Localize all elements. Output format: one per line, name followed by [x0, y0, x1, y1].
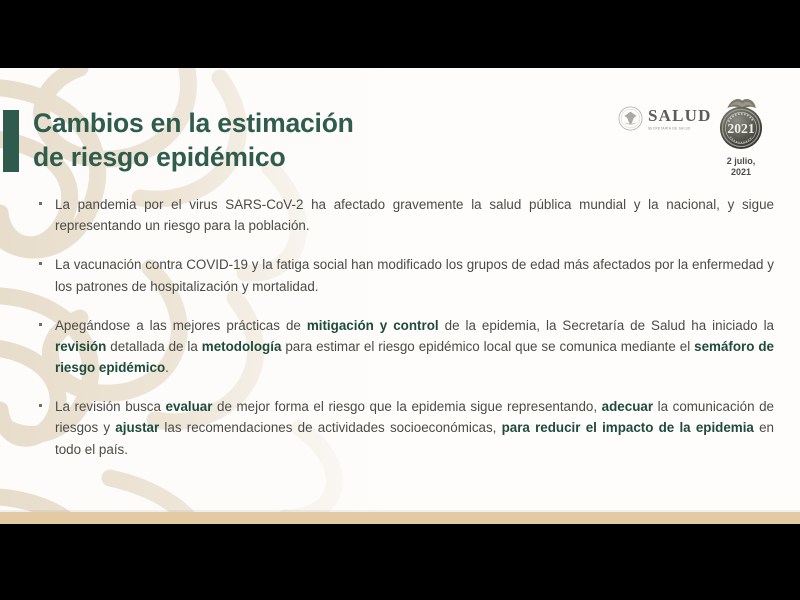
- bullet-emphasis: para reducir el impacto de la epidemia: [502, 420, 754, 435]
- bullet-text: La vacunación contra COVID-19 y la fatig…: [55, 254, 774, 296]
- bullet-marker-icon: [39, 404, 42, 407]
- bullet-vacunacion: La vacunación contra COVID-19 y la fatig…: [34, 254, 774, 296]
- bullet-list: La pandemia por el virus SARS-CoV-2 ha a…: [34, 194, 774, 460]
- salud-logo: SALUD SECRETARÍA DE SALUD: [618, 106, 712, 131]
- salud-wordmark: SALUD: [648, 107, 712, 124]
- bullet-metodologia: Apegándose a las mejores prácticas de mi…: [34, 315, 774, 379]
- letterbox-bottom: [0, 524, 800, 600]
- bullet-revision: La revisión busca evaluar de mejor forma…: [34, 396, 774, 460]
- bullet-plain: La pandemia por el virus SARS-CoV-2 ha a…: [55, 197, 774, 233]
- bullet-emphasis: evaluar: [166, 399, 213, 414]
- bullet-emphasis: adecuar: [602, 399, 653, 414]
- bullet-plain: La vacunación contra COVID-19 y la fatig…: [55, 257, 774, 293]
- bullet-plain: detallada de la: [106, 339, 201, 354]
- seal-date-line-1: 2 julio,: [710, 156, 772, 167]
- seal-date: 2 julio, 2021: [710, 156, 772, 179]
- bullet-marker-icon: [39, 323, 42, 326]
- bullet-text: La pandemia por el virus SARS-CoV-2 ha a…: [55, 194, 774, 236]
- bullet-emphasis: metodología: [202, 339, 282, 354]
- bullet-text: La revisión busca evaluar de mejor forma…: [55, 396, 774, 460]
- bullet-text: Apegándose a las mejores prácticas de mi…: [55, 315, 774, 379]
- page-title: Cambios en la estimación de riesgo epidé…: [33, 106, 453, 175]
- bullet-plain: para estimar el riesgo epidémico local q…: [281, 339, 694, 354]
- salud-subtitle: SECRETARÍA DE SALUD: [648, 126, 691, 131]
- presentation-slide: Cambios en la estimación de riesgo epidé…: [0, 68, 800, 524]
- commemorative-medal-icon: 2021: [710, 92, 772, 154]
- bullet-emphasis: revisión: [55, 339, 106, 354]
- title-accent-bar: [3, 110, 19, 172]
- bullet-marker-icon: [39, 202, 42, 205]
- bottom-stripe: [0, 512, 800, 524]
- bullet-plain: Apegándose a las mejores prácticas de: [55, 318, 307, 333]
- bullet-plain: de la epidemia, la Secretaría de Salud h…: [439, 318, 774, 333]
- bullet-plain: La revisión busca: [55, 399, 166, 414]
- bullet-pandemia: La pandemia por el virus SARS-CoV-2 ha a…: [34, 194, 774, 236]
- title-line-1: Cambios en la estimación: [33, 106, 453, 140]
- mexican-eagle-seal-icon: [618, 106, 643, 131]
- bullet-emphasis: mitigación y control: [307, 318, 439, 333]
- letterbox-top: [0, 0, 800, 68]
- bullet-marker-icon: [39, 262, 42, 265]
- svg-text:2021: 2021: [727, 121, 754, 136]
- bullet-plain: .: [165, 360, 169, 375]
- title-line-2: de riesgo epidémico: [33, 140, 453, 174]
- bullet-plain: las recomendaciones de actividades socio…: [159, 420, 501, 435]
- bullet-plain: de mejor forma el riesgo que la epidemia…: [212, 399, 601, 414]
- bullet-emphasis: ajustar: [115, 420, 159, 435]
- seal-date-line-2: 2021: [710, 167, 772, 178]
- video-frame: Cambios en la estimación de riesgo epidé…: [0, 0, 800, 600]
